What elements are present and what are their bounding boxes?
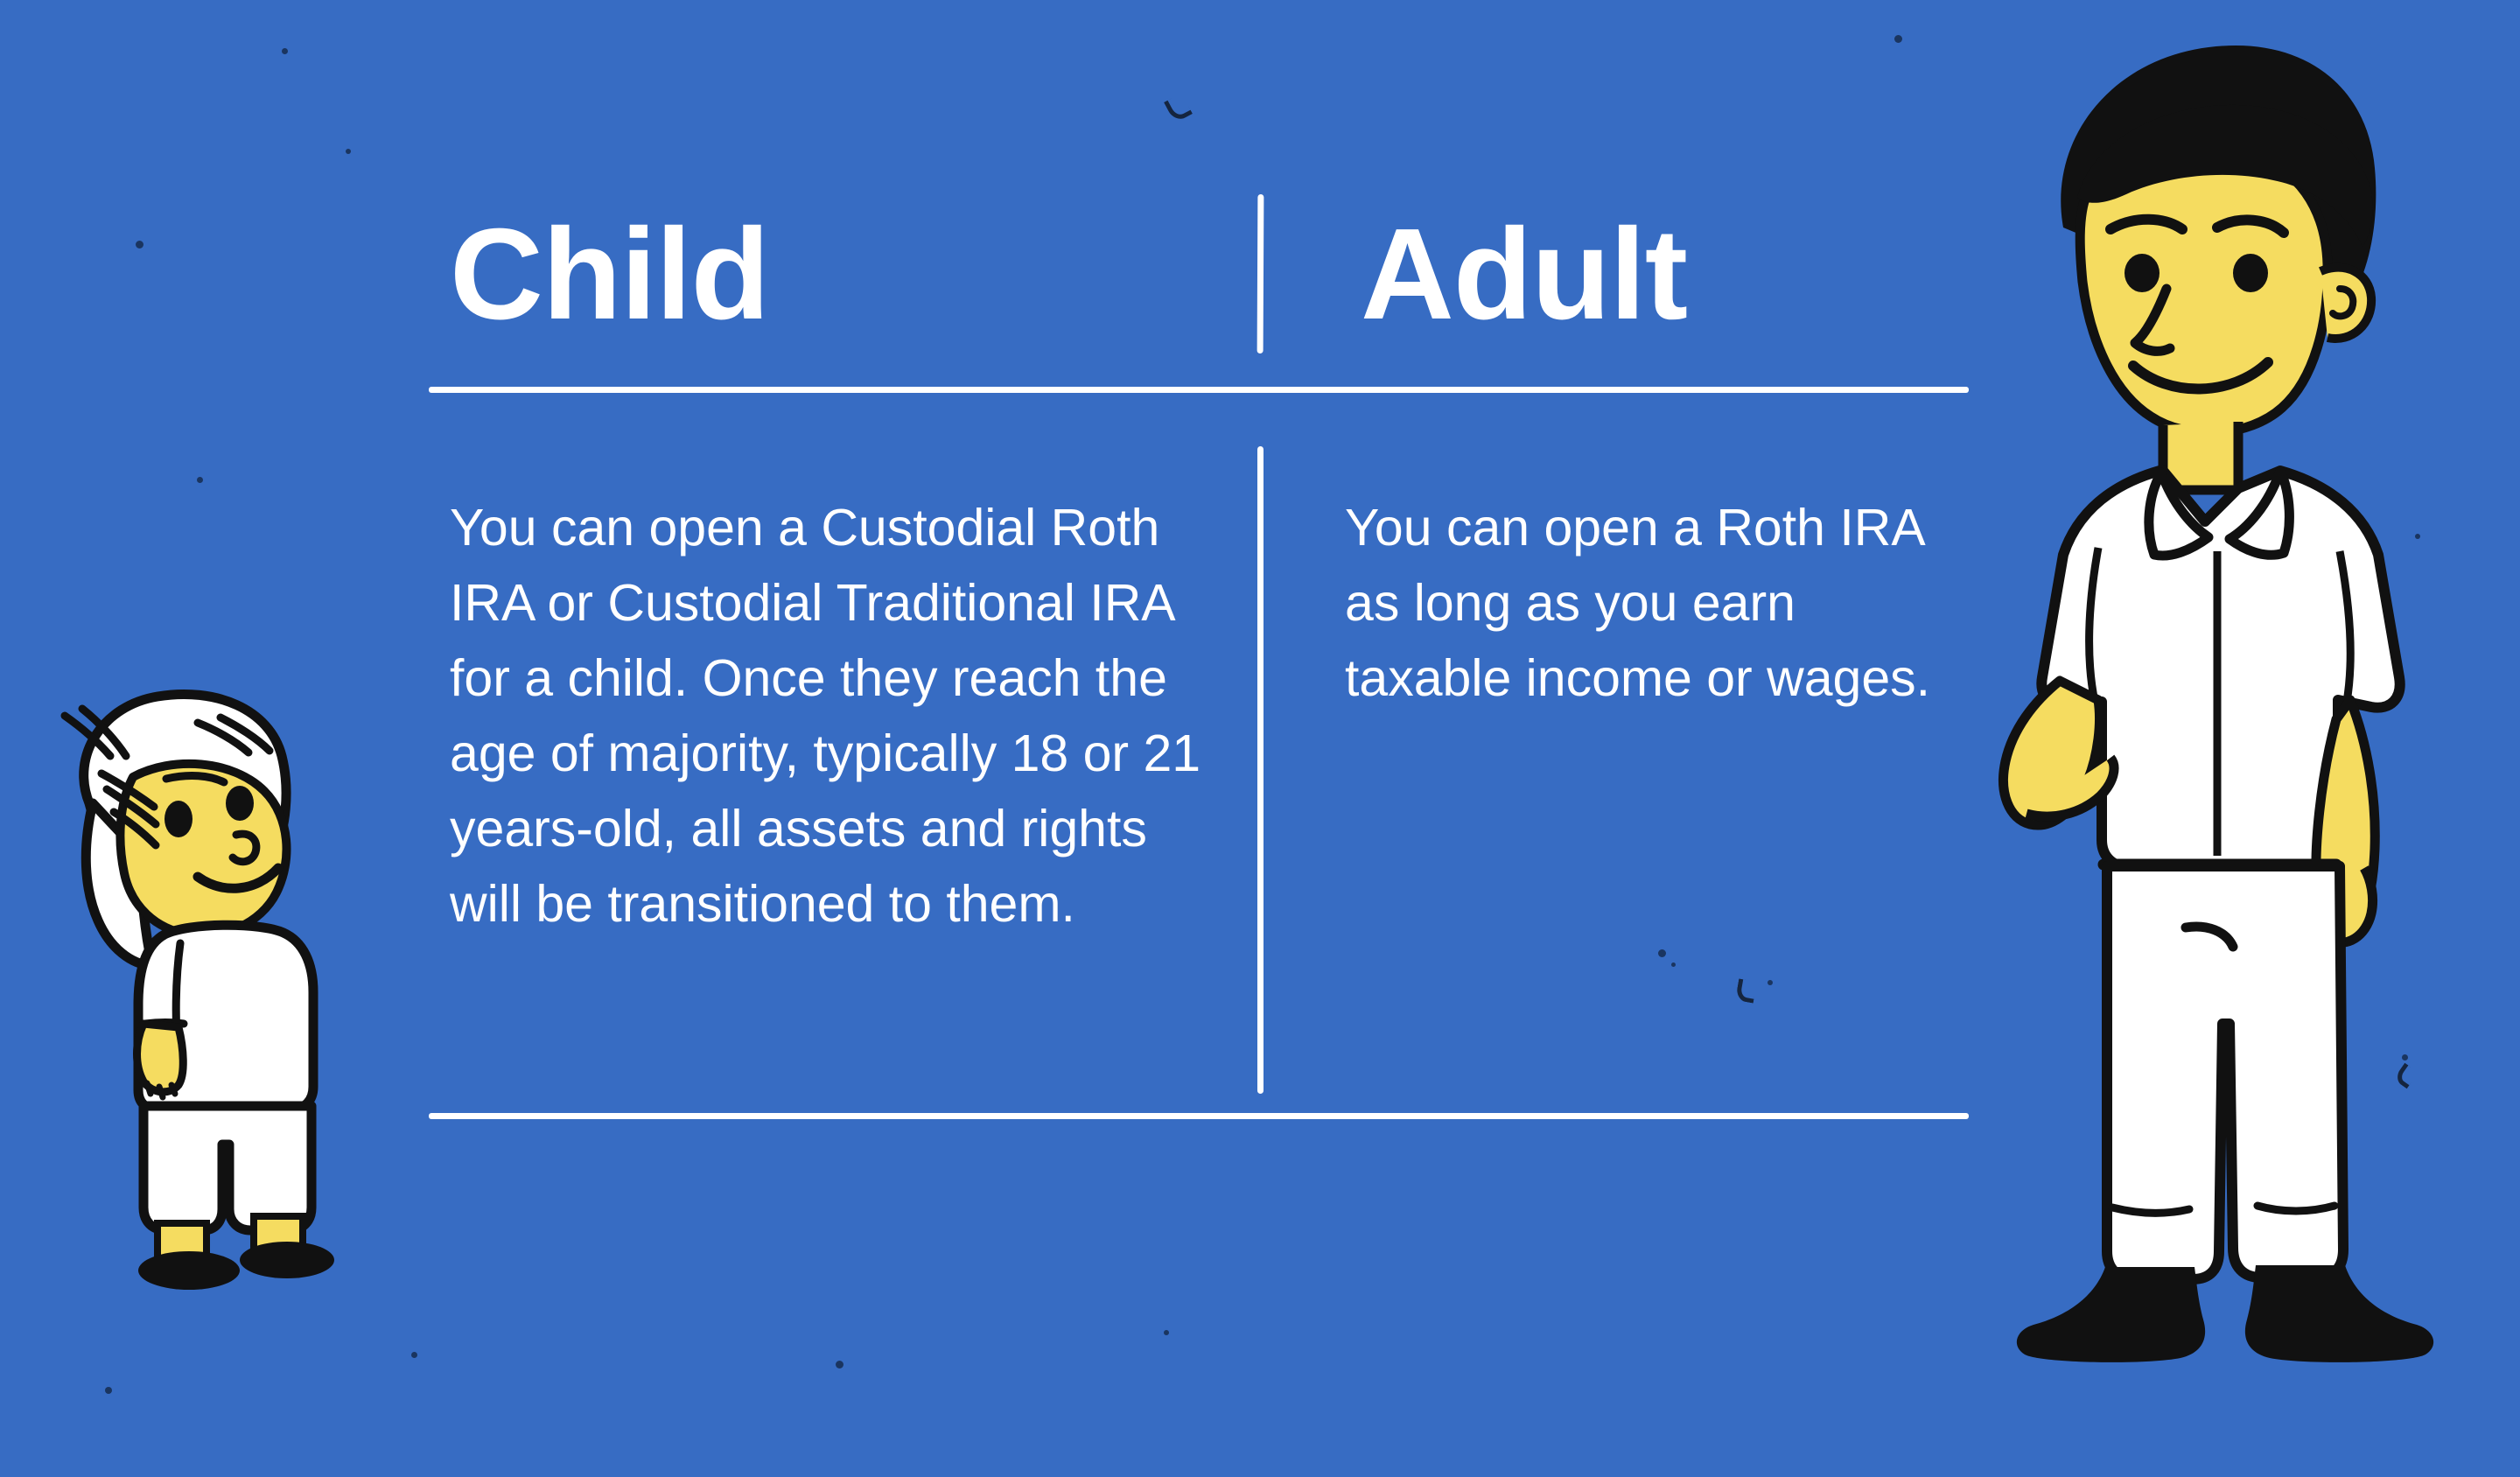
column-heading-child: Child: [450, 210, 769, 339]
adult-illustration: [1979, 26, 2469, 1417]
bottom-horizontal-rule: [429, 1113, 1969, 1119]
column-body-child: You can open a Custodial Roth IRA or Cus…: [450, 490, 1220, 941]
table-body-row: You can open a Custodial Roth IRA or Cus…: [429, 422, 1969, 1104]
background-speck: [1894, 35, 1902, 43]
header-vertical-divider: [1257, 194, 1264, 353]
background-curve-mark: [1164, 93, 1193, 123]
background-speck: [105, 1387, 112, 1394]
body-vertical-divider: [1257, 446, 1263, 1094]
infographic-canvas: Child Adult You can open a Custodial Rot…: [0, 0, 2520, 1477]
table-header-row: Child Adult: [429, 184, 1969, 389]
background-speck: [136, 241, 143, 248]
background-speck: [836, 1361, 843, 1368]
column-heading-adult: Adult: [1361, 210, 1687, 339]
background-speck: [411, 1352, 417, 1358]
background-speck: [1164, 1330, 1169, 1335]
comparison-table: Child Adult You can open a Custodial Rot…: [429, 184, 1969, 1124]
background-speck: [197, 477, 203, 483]
top-horizontal-rule: [429, 387, 1969, 393]
background-speck: [282, 48, 288, 54]
background-speck: [346, 149, 351, 154]
column-body-adult: You can open a Roth IRA as long as you e…: [1345, 490, 1957, 716]
child-illustration: [35, 672, 350, 1293]
